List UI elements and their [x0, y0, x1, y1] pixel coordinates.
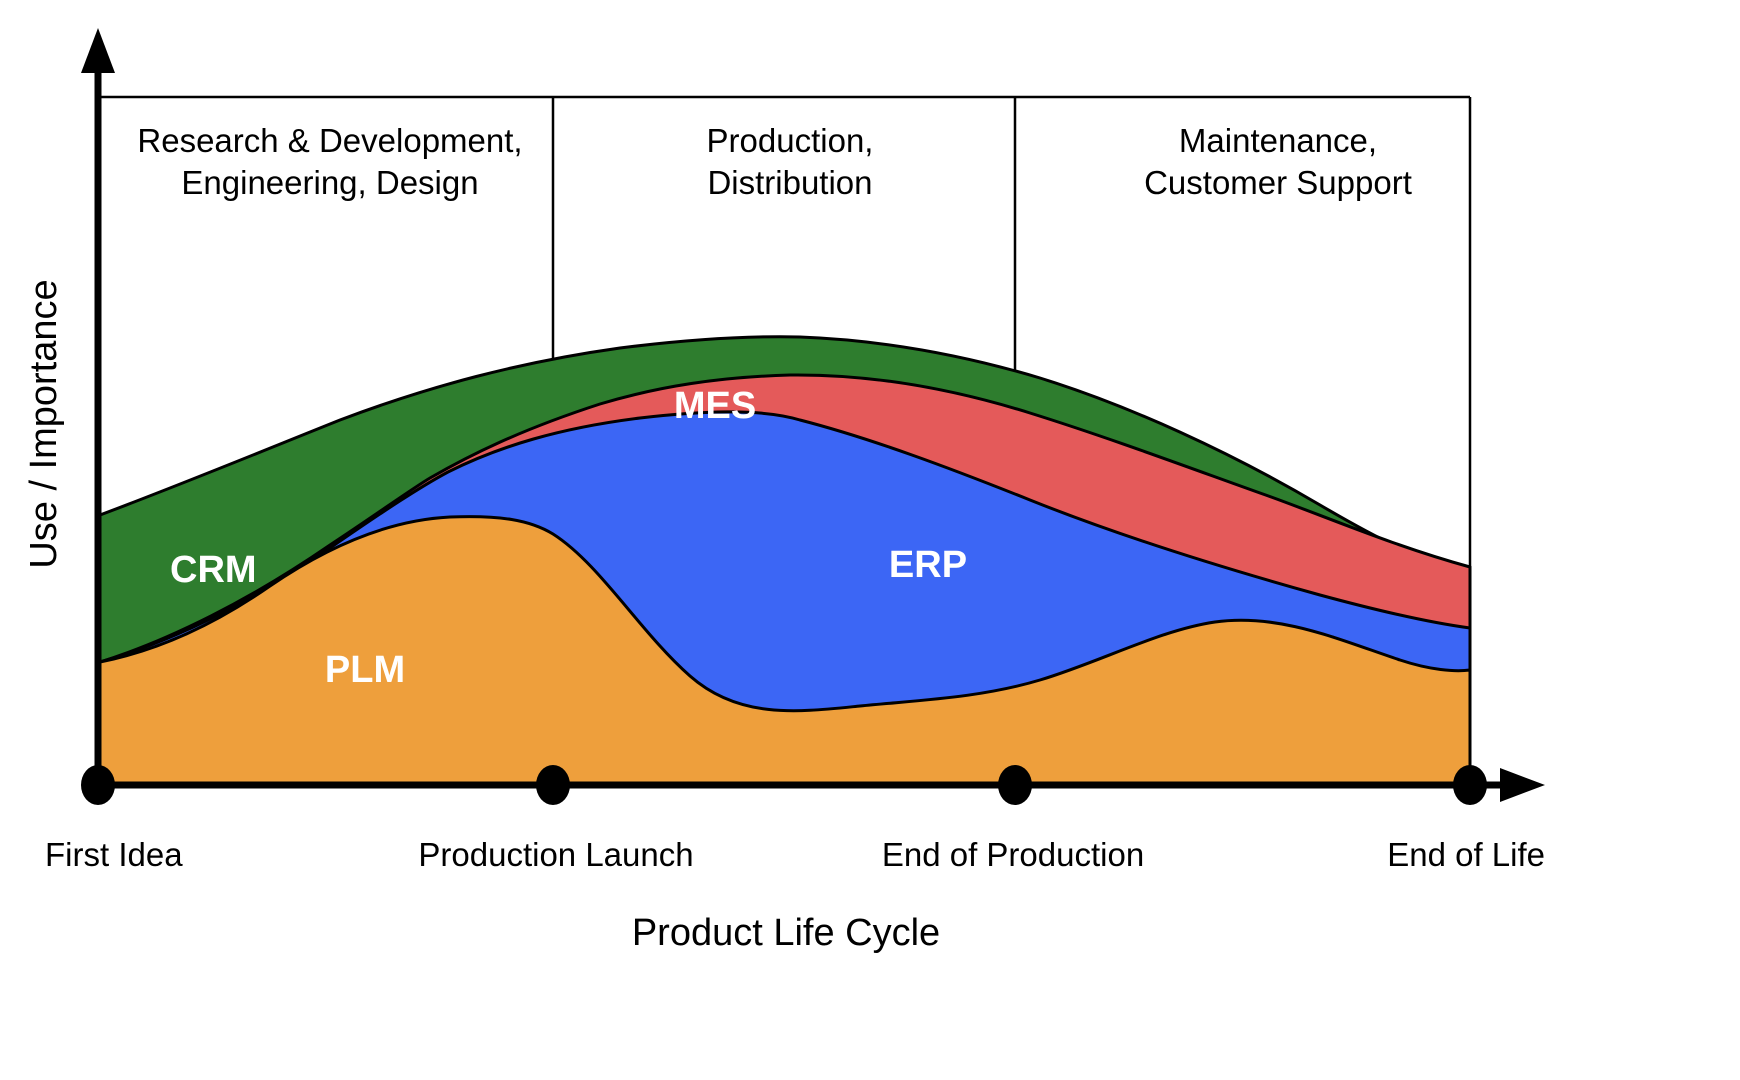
product-life-cycle-diagram: Research & Development, Engineering, Des… — [0, 0, 1740, 1080]
y-axis-title: Use / Importance — [23, 279, 65, 568]
marker-end-of-production[interactable] — [998, 765, 1032, 805]
marker-production-launch[interactable] — [536, 765, 570, 805]
phase-label-production: Production, Distribution — [707, 122, 874, 201]
tick-label-production-launch: Production Launch — [418, 836, 693, 873]
band-label-plm: PLM — [325, 649, 405, 691]
phase-label-maintenance-line1: Maintenance, — [1179, 122, 1377, 159]
phase-label-maintenance-line2: Customer Support — [1144, 164, 1412, 201]
marker-first-idea[interactable] — [81, 765, 115, 805]
tick-label-end-of-production: End of Production — [882, 836, 1144, 873]
band-label-mes: MES — [674, 385, 756, 427]
band-label-erp: ERP — [889, 544, 967, 586]
phase-label-rd-line1: Research & Development, — [137, 122, 522, 159]
tick-label-first-idea: First Idea — [45, 836, 183, 873]
chart-canvas: Research & Development, Engineering, Des… — [0, 0, 1740, 1080]
phase-label-rd: Research & Development, Engineering, Des… — [137, 122, 522, 201]
band-label-crm: CRM — [170, 549, 257, 591]
phase-label-production-line1: Production, — [707, 122, 874, 159]
tick-label-end-of-life: End of Life — [1387, 836, 1545, 873]
phase-label-production-line2: Distribution — [707, 164, 872, 201]
x-axis-arrowhead — [1500, 768, 1545, 802]
y-axis-arrowhead — [81, 28, 115, 73]
marker-end-of-life[interactable] — [1453, 765, 1487, 805]
phase-label-maintenance: Maintenance, Customer Support — [1144, 122, 1412, 201]
x-axis-title: Product Life Cycle — [632, 912, 940, 954]
phase-label-rd-line2: Engineering, Design — [181, 164, 478, 201]
